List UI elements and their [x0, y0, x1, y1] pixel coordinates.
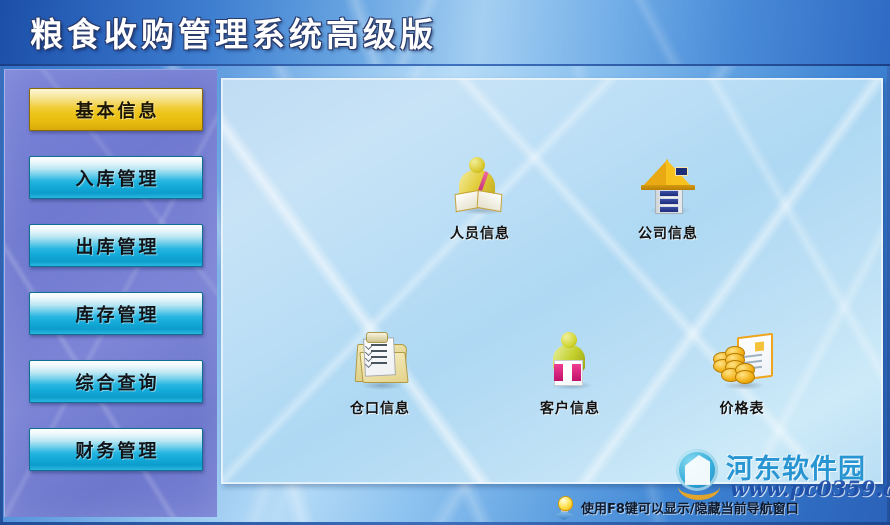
tile-label: 仓口信息	[326, 398, 434, 418]
sidebar-item-label: 基本信息	[30, 89, 202, 130]
sidebar-item-outbound[interactable]: 出库管理	[29, 224, 203, 267]
sidebar-item-finance[interactable]: 财务管理	[29, 428, 203, 471]
window-frame-left	[0, 66, 3, 525]
coins-document-icon	[711, 330, 773, 392]
application-window: 粮食收购管理系统高级版 基本信息 入库管理 出库管理 库存管理 综合查询 财务管…	[0, 0, 890, 525]
folder-checklist-icon	[349, 330, 411, 392]
sidebar-item-label: 入库管理	[30, 157, 202, 198]
status-hint: 使用F8键可以显示/隐藏当前导航窗口	[553, 495, 799, 519]
sidebar-item-label: 财务管理	[30, 429, 202, 470]
tile-label: 价格表	[688, 398, 796, 418]
house-icon	[637, 155, 699, 217]
sidebar-item-label: 库存管理	[30, 293, 202, 334]
sidebar-item-query[interactable]: 综合查询	[29, 360, 203, 403]
title-divider	[0, 64, 890, 66]
tile-customer-info[interactable]: 客户信息	[516, 330, 624, 418]
tile-warehouse-info[interactable]: 仓口信息	[326, 330, 434, 418]
navigation-panel: 基本信息 入库管理 出库管理 库存管理 综合查询 财务管理	[4, 69, 217, 517]
sidebar-item-label: 综合查询	[30, 361, 202, 402]
sidebar-item-label: 出库管理	[30, 225, 202, 266]
status-bar: 使用F8键可以显示/隐藏当前导航窗口	[0, 493, 890, 525]
tile-label: 客户信息	[516, 398, 624, 418]
tile-label: 公司信息	[614, 223, 722, 243]
sidebar-item-basic-info[interactable]: 基本信息	[29, 88, 203, 131]
sidebar-item-inbound[interactable]: 入库管理	[29, 156, 203, 199]
content-panel-streaks	[222, 79, 882, 483]
person-book-icon	[449, 155, 511, 217]
customer-card-icon	[539, 330, 601, 392]
sidebar-item-inventory[interactable]: 库存管理	[29, 292, 203, 335]
title-bar: 粮食收购管理系统高级版	[0, 0, 890, 66]
tile-company-info[interactable]: 公司信息	[614, 155, 722, 243]
app-title: 粮食收购管理系统高级版	[30, 8, 437, 56]
tile-label: 人员信息	[426, 223, 534, 243]
lightbulb-icon	[553, 495, 575, 519]
content-panel: 人员信息 公司信息	[221, 78, 883, 484]
tile-price-list[interactable]: 价格表	[688, 330, 796, 418]
tile-personnel-info[interactable]: 人员信息	[426, 155, 534, 243]
status-hint-text: 使用F8键可以显示/隐藏当前导航窗口	[581, 498, 799, 517]
